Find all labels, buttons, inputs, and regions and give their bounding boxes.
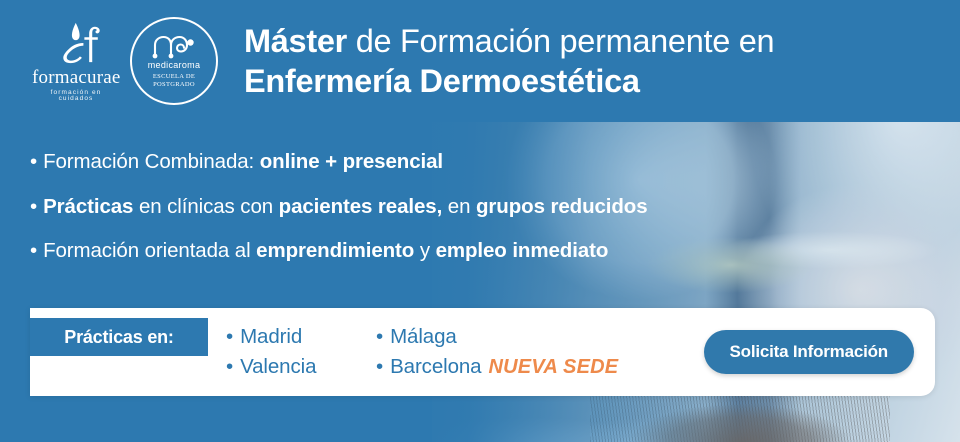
request-info-button[interactable]: Solicita Información — [704, 330, 914, 374]
bullet-text: Formación orientada al — [43, 239, 256, 262]
bullet-text-strong: empleo inmediato — [436, 239, 609, 262]
city-item: •Málaga — [376, 325, 618, 349]
bullet-dot-icon: • — [376, 355, 383, 378]
logo-group: formacurae formación en cuidados medicar… — [32, 17, 218, 105]
city-item: •Madrid — [226, 325, 376, 349]
bullet-dot-icon: • — [30, 239, 37, 262]
feature-bullet: •Formación orientada al emprendimiento y… — [30, 241, 648, 262]
new-location-badge: NUEVA SEDE — [489, 356, 619, 378]
locations-tab: Prácticas en: — [30, 318, 208, 356]
city-name: Valencia — [240, 355, 316, 378]
logo-medicaroma: medicaroma ESCUELA DE POSTGRADO — [130, 17, 218, 105]
bullet-dot-icon: • — [30, 150, 37, 173]
bullet-dot-icon: • — [30, 195, 37, 218]
formacurae-tagline: formación en cuidados — [32, 90, 120, 103]
title-light: de Formación permanente en — [347, 23, 774, 59]
bullet-text: en — [442, 195, 476, 218]
bullet-text-strong: Prácticas — [43, 195, 133, 218]
title-strong: Máster — [244, 23, 347, 59]
city-name: Madrid — [240, 325, 302, 348]
city-list: •Madrid•Málaga•Valencia•BarcelonaNUEVA S… — [226, 322, 618, 382]
bullet-text: Formación Combinada: — [43, 150, 260, 173]
logo-formacurae: formacurae formación en cuidados — [32, 20, 120, 103]
feature-bullet: •Formación Combinada: online + presencia… — [30, 152, 648, 173]
locations-tab-label: Prácticas en: — [64, 327, 173, 348]
medicaroma-subtitle-line2: POSTGRADO — [153, 81, 195, 88]
city-name: Barcelona — [390, 355, 481, 378]
bullet-text-strong: emprendimiento — [256, 239, 414, 262]
bullet-dot-icon: • — [226, 325, 233, 348]
bullet-text-strong: pacientes reales, — [279, 195, 443, 218]
page-title: Máster de Formación permanente en Enferm… — [244, 21, 774, 102]
promotional-banner: formacurae formación en cuidados medicar… — [0, 0, 960, 442]
bullet-dot-icon: • — [226, 355, 233, 378]
formacurae-monogram-icon — [47, 20, 105, 66]
bullet-dot-icon: • — [376, 325, 383, 348]
city-item: •BarcelonaNUEVA SEDE — [376, 355, 618, 379]
title-line-1: Máster de Formación permanente en — [244, 21, 774, 61]
bullet-text: en clínicas con — [133, 195, 278, 218]
bullet-text-strong: grupos reducidos — [476, 195, 648, 218]
medicaroma-subtitle-line1: ESCUELA DE — [153, 73, 195, 80]
medicaroma-name: medicaroma — [148, 60, 201, 70]
feature-bullet: •Prácticas en clínicas con pacientes rea… — [30, 197, 648, 218]
formacurae-wordmark: formacurae — [32, 68, 120, 87]
city-item: •Valencia — [226, 355, 376, 379]
title-line-2: Enfermería Dermoestética — [244, 61, 774, 101]
title-subject: Enfermería Dermoestética — [244, 63, 640, 99]
banner-header: formacurae formación en cuidados medicar… — [0, 0, 960, 122]
feature-bullet-list: •Formación Combinada: online + presencia… — [30, 152, 648, 262]
medicaroma-monogram-icon — [150, 33, 198, 59]
locations-panel: Prácticas en: •Madrid•Málaga•Valencia•Ba… — [30, 308, 935, 396]
bullet-text-strong: online + presencial — [260, 150, 443, 173]
bullet-text: y — [414, 239, 435, 262]
city-name: Málaga — [390, 325, 457, 348]
